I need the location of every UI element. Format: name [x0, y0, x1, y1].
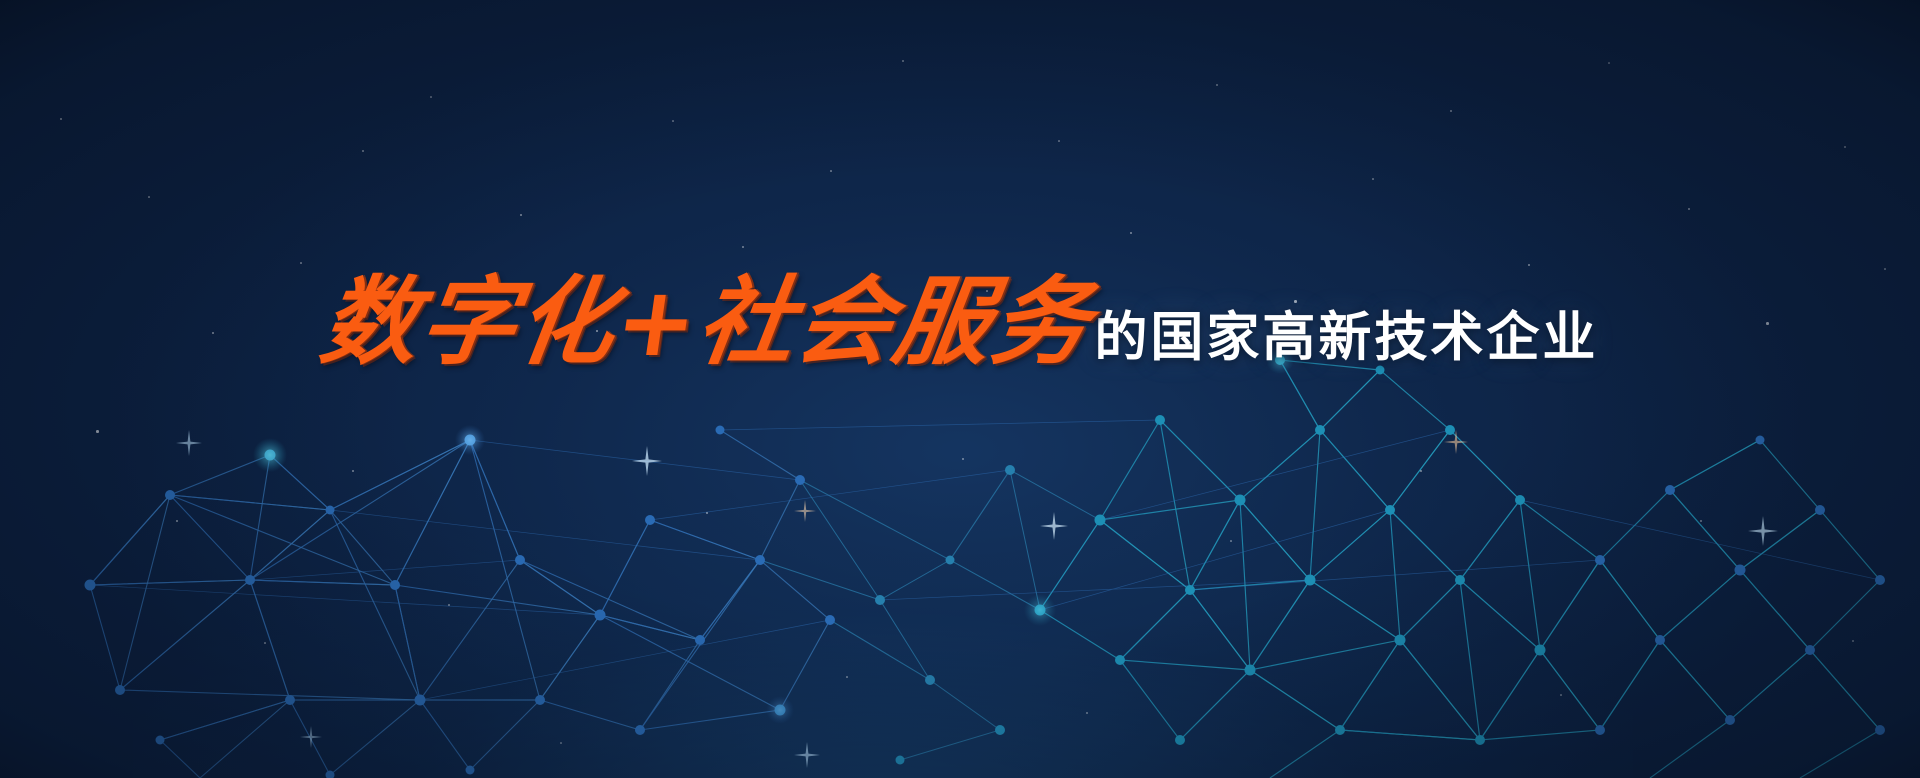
network-mesh-graphic — [0, 0, 1920, 778]
mesh-nodes-blue — [85, 426, 836, 778]
page-subtitle: 的国家高新技术企业 — [1094, 306, 1598, 370]
page-title: 数字化+社会服务 — [314, 272, 1097, 374]
hero-banner: 数字化+社会服务 的国家高新技术企业 — [0, 0, 1920, 778]
mesh-nodes-bridge — [875, 465, 1046, 765]
hero-text-block: 数字化+社会服务 的国家高新技术企业 — [0, 272, 1920, 374]
mesh-node-glows — [253, 346, 1294, 724]
